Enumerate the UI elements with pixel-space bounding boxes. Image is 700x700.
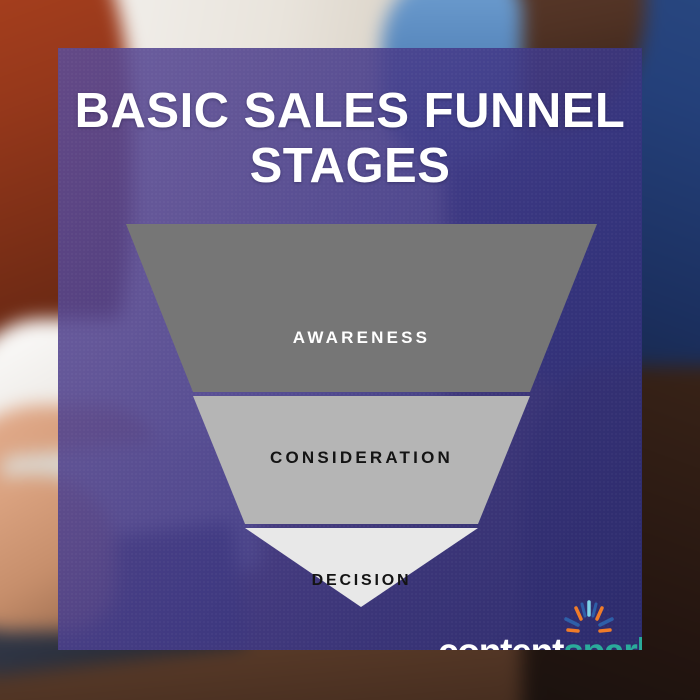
funnel-shapes	[126, 224, 597, 607]
purple-overlay-panel: BASIC SALES FUNNEL STAGES AWARENESS CONS…	[58, 48, 642, 650]
contentsparks-logo[interactable]: contentsparks	[438, 600, 628, 650]
page-title-line-1: BASIC SALES FUNNEL	[72, 84, 628, 139]
funnel-label-awareness: AWARENESS	[126, 328, 597, 348]
slide-canvas: BASIC SALES FUNNEL STAGES AWARENESS CONS…	[0, 0, 700, 700]
logo-word-content: content	[438, 631, 563, 650]
sales-funnel-diagram: AWARENESS CONSIDERATION DECISION	[126, 224, 597, 607]
page-title-line-2: STAGES	[72, 139, 628, 194]
logo-wordmark: contentsparks	[438, 633, 642, 650]
funnel-segment-awareness[interactable]	[126, 224, 597, 392]
page-title: BASIC SALES FUNNEL STAGES	[58, 84, 642, 194]
funnel-label-consideration: CONSIDERATION	[126, 448, 597, 468]
logo-word-sparks: sparks	[563, 631, 642, 650]
funnel-label-decision: DECISION	[126, 572, 597, 590]
funnel-segment-decision[interactable]	[245, 528, 478, 607]
